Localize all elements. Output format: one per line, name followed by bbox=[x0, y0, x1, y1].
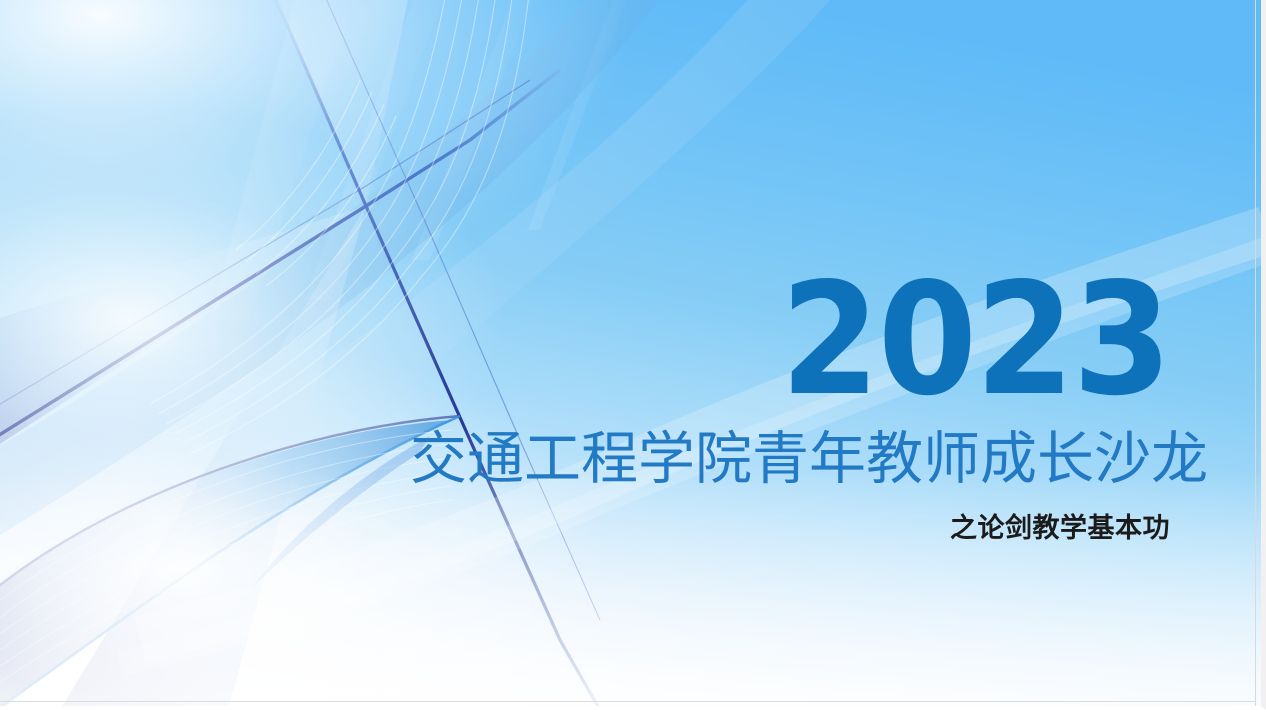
page-subtitle: 之论剑教学基本功 bbox=[410, 514, 1170, 544]
page-title: 交通工程学院青年教师成长沙龙 bbox=[410, 429, 1170, 489]
title-block: 2023 交通工程学院青年教师成长沙龙 之论剑教学基本功 bbox=[410, 276, 1170, 543]
year-heading: 2023 bbox=[471, 276, 1170, 403]
presentation-slide: 2023 交通工程学院青年教师成长沙龙 之论剑教学基本功 bbox=[0, 0, 1266, 710]
